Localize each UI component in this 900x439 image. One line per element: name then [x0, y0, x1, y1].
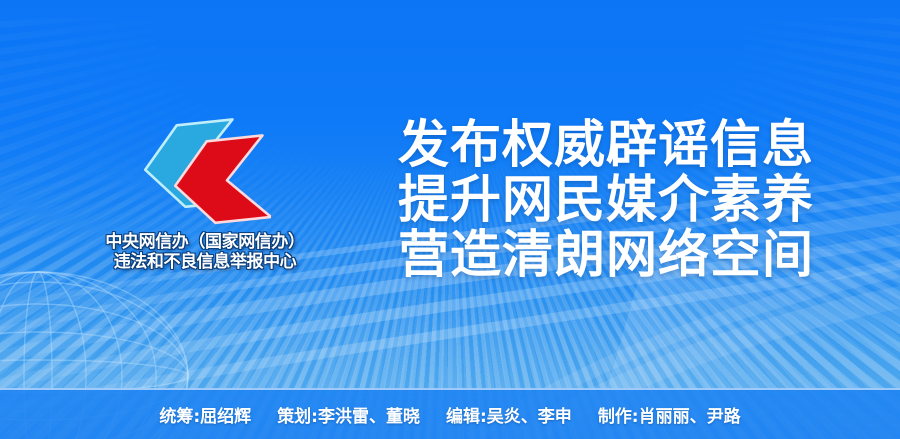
- organisation-name: 中央网信办（国家网信办） 违法和不良信息举报中心: [105, 232, 304, 272]
- headline-line-3: 营造清朗网络空间: [398, 228, 868, 283]
- headline: 发布权威辟谣信息 提升网民媒介素养 营造清朗网络空间: [398, 118, 868, 283]
- credits-list: 统筹:屈绍辉 策划:李洪雷、董晓 编辑:吴炎、李申 制作:肖丽丽、尹路: [159, 402, 740, 427]
- credit-item-editor: 编辑:吴炎、李申: [446, 402, 572, 427]
- org-line-2: 违法和不良信息举报中心: [105, 252, 304, 272]
- logo-block: 中央网信办（国家网信办） 违法和不良信息举报中心: [80, 110, 330, 272]
- credit-item-planner: 策划:李洪雷、董晓: [277, 402, 420, 427]
- promo-banner: 中央网信办（国家网信办） 违法和不良信息举报中心 发布权威辟谣信息 提升网民媒介…: [0, 0, 900, 439]
- org-line-1: 中央网信办（国家网信办）: [105, 232, 304, 252]
- credit-item-designer: 制作:肖丽丽、尹路: [598, 402, 741, 427]
- headline-line-2: 提升网民媒介素养: [398, 173, 868, 228]
- credits-bar: 统筹:屈绍辉 策划:李洪雷、董晓 编辑:吴炎、李申 制作:肖丽丽、尹路: [0, 388, 900, 439]
- headline-line-1: 发布权威辟谣信息: [398, 118, 868, 173]
- credit-item-producer: 统筹:屈绍辉: [159, 402, 251, 427]
- report-center-logo-icon: [139, 110, 271, 228]
